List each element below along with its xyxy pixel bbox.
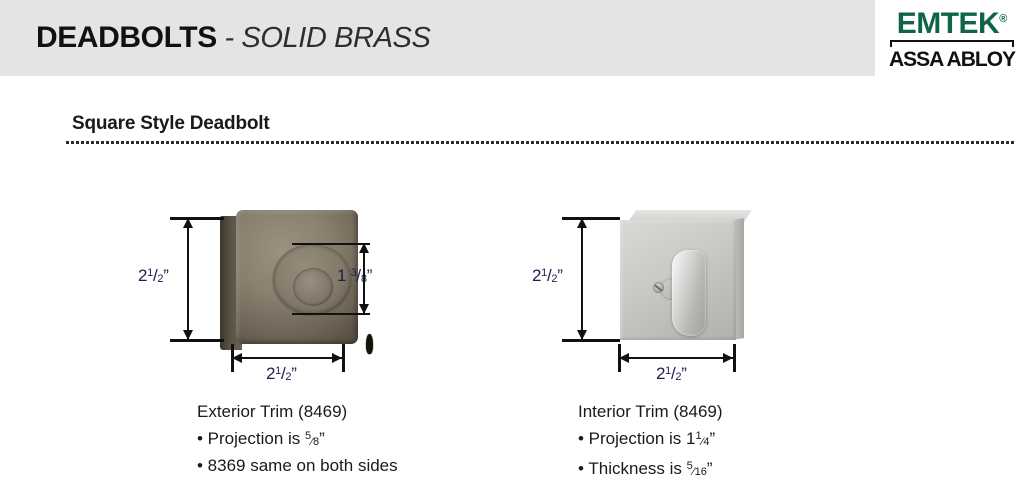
dim-arrow-down-exterior-height bbox=[183, 330, 193, 340]
section-divider bbox=[66, 141, 1016, 144]
brand-logo: EMTEK® ASSA ABLOY bbox=[882, 2, 1022, 76]
page-title: DEADBOLTS - SOLID BRASS bbox=[36, 19, 430, 57]
emtek-wordmark: EMTEK® bbox=[882, 2, 1022, 38]
deadbolt-faceplate-interior bbox=[620, 220, 736, 340]
caption-interior-projection: • Projection is 11⁄4” bbox=[578, 424, 723, 454]
page-title-primary: DEADBOLTS bbox=[36, 21, 217, 54]
dim-line-exterior-height bbox=[187, 220, 189, 340]
dim-tick-right-exterior-width bbox=[342, 344, 345, 372]
assa-abloy-wordmark: ASSA ABLOY bbox=[882, 48, 1022, 72]
dim-arrow-up-exterior-cylinder bbox=[359, 243, 369, 253]
dim-arrow-left-exterior-width bbox=[232, 353, 242, 363]
caption-exterior: Exterior Trim (8469) • Projection is 5⁄8… bbox=[197, 400, 398, 478]
caption-interior-thickness: • Thickness is 5⁄16” bbox=[578, 454, 723, 484]
caption-interior-title: Interior Trim (8469) bbox=[578, 400, 723, 424]
dim-line-interior-width bbox=[621, 357, 733, 359]
dim-tick-top-exterior-height bbox=[170, 217, 224, 220]
dim-tick-top-interior-height bbox=[562, 217, 620, 220]
dim-tick-bottom-interior-height bbox=[562, 339, 620, 342]
dim-label-exterior-height: 21/2” bbox=[138, 266, 169, 286]
dim-line-exterior-width bbox=[234, 357, 342, 359]
dim-arrow-down-interior-height bbox=[577, 330, 587, 340]
thumbturn-lever bbox=[672, 250, 706, 336]
caption-exterior-title: Exterior Trim (8469) bbox=[197, 400, 398, 424]
dim-line-interior-height bbox=[581, 220, 583, 340]
logo-bracket-divider bbox=[890, 40, 1014, 47]
dim-label-exterior-width: 21/2” bbox=[266, 364, 297, 384]
mounting-screw-icon bbox=[653, 282, 664, 293]
caption-interior: Interior Trim (8469) • Projection is 11⁄… bbox=[578, 400, 723, 484]
page-title-secondary: - SOLID BRASS bbox=[217, 22, 431, 54]
dim-arrow-down-exterior-cylinder bbox=[359, 304, 369, 314]
dim-arrow-right-exterior-width bbox=[332, 353, 342, 363]
dim-label-interior-height: 21/2” bbox=[532, 266, 563, 286]
deadbolt-key-cylinder bbox=[293, 268, 333, 306]
dim-arrow-up-interior-height bbox=[577, 218, 587, 228]
caption-exterior-note: • 8369 same on both sides bbox=[197, 454, 398, 478]
dim-label-exterior-cylinder: 1 3/8” bbox=[337, 266, 372, 286]
registered-trademark-icon: ® bbox=[999, 13, 1007, 25]
dim-arrow-left-interior-width bbox=[619, 353, 629, 363]
dim-tick-bottom-exterior-height bbox=[170, 339, 224, 342]
dim-arrow-up-exterior-height bbox=[183, 218, 193, 228]
dim-label-interior-width: 21/2” bbox=[656, 364, 687, 384]
keyhole-icon bbox=[366, 334, 373, 354]
section-heading: Square Style Deadbolt bbox=[72, 113, 269, 135]
caption-exterior-projection: • Projection is 5⁄8” bbox=[197, 424, 398, 454]
dim-tick-right-interior-width bbox=[733, 344, 736, 372]
emtek-text: EMTEK bbox=[897, 7, 1000, 40]
product-image-interior-deadbolt bbox=[620, 210, 750, 344]
dim-arrow-right-interior-width bbox=[723, 353, 733, 363]
